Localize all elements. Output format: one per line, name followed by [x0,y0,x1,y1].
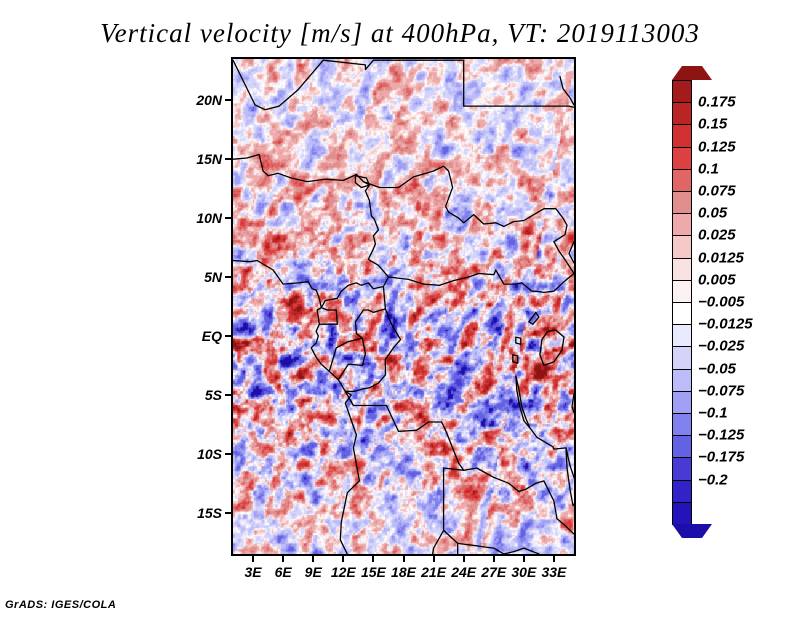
y-axis-tick-label: 20N [196,92,222,108]
colorbar-tick-label: −0.175 [698,449,744,466]
colorbar-tick-label: −0.1 [698,405,728,422]
colorbar-tick-label: 0.005 [698,271,736,288]
x-axis-tick-label: 24E [451,564,476,580]
colorbar-legend: 0.1750.150.1250.10.0750.050.0250.01250.0… [672,62,792,562]
y-axis-tick-label: EQ [202,328,222,344]
map-border-line [233,261,321,308]
colorbar-tick-label: 0.075 [698,183,736,200]
colorbar-tick-label: 0.1 [698,160,719,177]
map-border-line [433,530,444,554]
x-axis-tick-label: 18E [391,564,416,580]
x-axis-tick-mark [433,556,435,562]
colorbar-tick-label: −0.125 [698,427,744,444]
colorbar-under-arrow [672,524,712,538]
x-axis-tick-label: 6E [275,564,292,580]
x-axis-tick-label: 21E [421,564,446,580]
map-border-line [311,308,359,554]
colorbar-swatch [672,280,692,304]
y-axis-tick-mark [225,158,231,160]
x-axis-tick-label: 33E [541,564,566,580]
colorbar-tick-label: 0.125 [698,138,736,155]
colorbar-swatch [672,302,692,326]
page-title: Vertical velocity [m/s] at 400hPa, VT: 2… [0,18,800,49]
x-axis-tick-mark [342,556,344,562]
map-border-line [233,60,323,109]
map-border-line [464,468,557,519]
x-axis-tick-label: 30E [511,564,536,580]
map-border-line [513,355,518,363]
map-border-line [540,330,564,365]
colorbar-swatch [672,191,692,215]
colorbar-swatch [672,435,692,459]
map-border-line [338,309,385,380]
map-border-line [321,249,388,308]
y-axis-tick-mark [225,276,231,278]
y-axis-tick-label: 5S [205,387,222,403]
map-border-line [566,448,574,506]
y-axis-tick-label: 15N [196,151,222,167]
x-axis-tick-mark [553,556,555,562]
colorbar-tick-label: −0.0125 [698,316,753,333]
x-axis-tick-label: 15E [361,564,386,580]
y-axis-tick-mark [225,394,231,396]
map-border-line [345,391,463,470]
colorbar-over-arrow [672,66,712,80]
map-border-line [530,428,566,449]
y-axis-tick-label: 10S [197,446,222,462]
map-border-line [504,548,539,554]
map-border-line [319,308,337,325]
map-border-line [496,270,574,292]
x-axis-tick-mark [493,556,495,562]
x-axis-tick-label: 9E [305,564,322,580]
y-axis-tick-mark [225,453,231,455]
x-axis-tick-mark [463,556,465,562]
colorbar-swatch [672,258,692,282]
map-border-line [572,394,574,413]
colorbar-tick-label: −0.05 [698,360,736,377]
colorbar-tick-label: 0.175 [698,94,736,111]
colorbar-tick-label: 0.05 [698,205,727,222]
map-border-line [233,155,363,182]
colorbar-swatch [672,369,692,393]
colorbar-swatch [672,413,692,437]
x-axis-tick-mark [403,556,405,562]
map-border-line [329,338,362,371]
map-border-line [529,312,539,324]
colorbar-swatch [672,480,692,504]
map-border-line [323,60,373,69]
map-border-line [355,176,369,188]
colorbar-swatch [672,324,692,348]
map-border-line [496,209,574,274]
colorbar-tick-label: −0.025 [698,338,744,355]
colorbar-swatch [672,457,692,481]
colorbar-swatch [672,502,692,526]
y-axis-tick-mark [225,217,231,219]
map-border-line [389,270,496,285]
x-axis-tick-label: 12E [331,564,356,580]
map-plot-area [231,57,576,556]
x-axis-tick-label: 3E [244,564,261,580]
x-axis-tick-mark [523,556,525,562]
map-border-line [557,519,574,534]
x-axis-tick-mark [282,556,284,562]
colorbar-tick-label: 0.15 [698,116,727,133]
map-border-line [345,287,400,392]
x-axis-tick-mark [372,556,374,562]
x-axis-tick-mark [312,556,314,562]
map-border-line [516,337,521,344]
map-border-line [464,106,574,107]
map-border-line [516,376,530,428]
y-axis-tick-label: 5N [204,269,222,285]
colorbar-tick-label: −0.075 [698,382,744,399]
colorbar-swatch [672,346,692,370]
colorbar-tick-label: 0.025 [698,227,736,244]
x-axis-tick-mark [252,556,254,562]
colorbar-swatch [672,235,692,259]
colorbar-tick-label: −0.005 [698,294,744,311]
country-borders-overlay [233,59,574,554]
map-border-line [560,77,574,105]
x-axis-tick-label: 27E [481,564,506,580]
map-border-line [444,468,504,554]
colorbar-swatch [672,102,692,126]
grads-attribution: GrADS: IGES/COLA [5,599,116,611]
colorbar-tick-label: −0.2 [698,471,728,488]
colorbar-swatch [672,169,692,193]
map-border-line [363,166,495,224]
y-axis-tick-label: 10N [196,210,222,226]
y-axis-tick-mark [225,99,231,101]
colorbar-swatch [672,147,692,171]
colorbar-swatch [672,391,692,415]
map-border-line [569,242,574,263]
y-axis-tick-mark [225,512,231,514]
y-axis-tick-label: 15S [197,505,222,521]
colorbar-swatch [672,124,692,148]
colorbar-tick-label: 0.0125 [698,249,744,266]
y-axis-tick-mark [225,335,231,337]
colorbar-swatch [672,80,692,104]
colorbar-swatch [672,213,692,237]
map-border-line [363,182,378,249]
